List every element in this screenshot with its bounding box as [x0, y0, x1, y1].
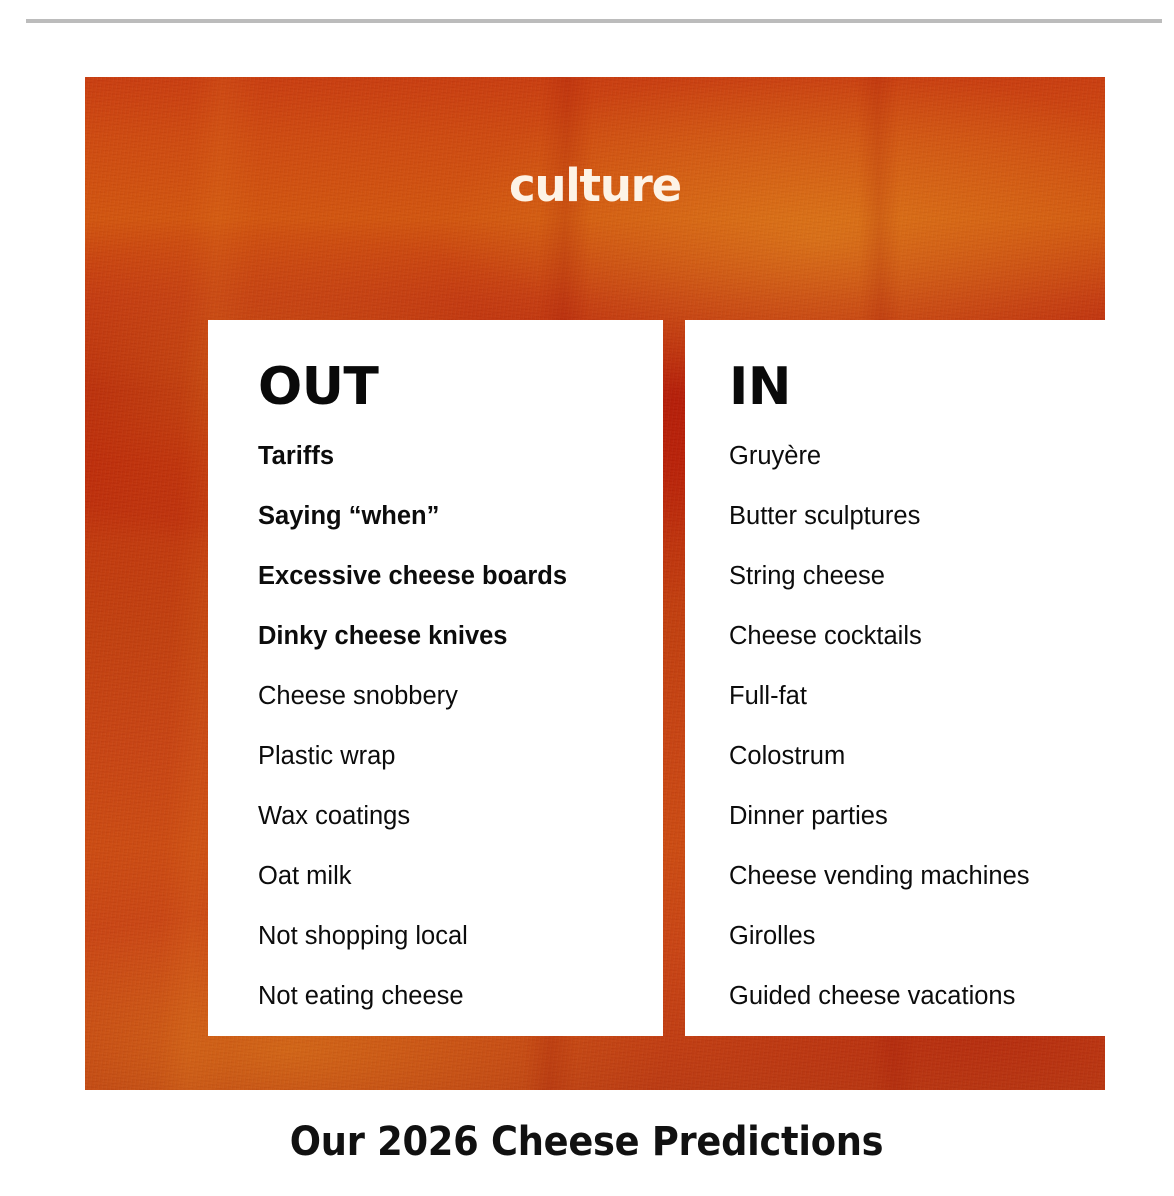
- in-list: Gruyère Butter sculptures String cheese …: [685, 413, 1105, 1010]
- list-item: Wax coatings: [258, 804, 663, 830]
- masthead: culture: [85, 163, 1105, 208]
- list-item: Gruyère: [729, 444, 1105, 470]
- list-item: Cheese cocktails: [729, 624, 1105, 650]
- list-item: Plastic wrap: [258, 744, 663, 770]
- list-item: Colostrum: [729, 744, 1105, 770]
- list-item: Saying “when”: [258, 504, 663, 530]
- list-item: Butter sculptures: [729, 504, 1105, 530]
- out-panel: OUT Tariffs Saying “when” Excessive chee…: [208, 320, 663, 1036]
- list-item: Not eating cheese: [258, 984, 663, 1010]
- top-divider-rule: [26, 19, 1162, 23]
- poster-card: culture OUT Tariffs Saying “when” Excess…: [85, 77, 1105, 1090]
- out-list: Tariffs Saying “when” Excessive cheese b…: [208, 413, 663, 1010]
- list-item: String cheese: [729, 564, 1105, 590]
- list-item: Guided cheese vacations: [729, 984, 1105, 1010]
- in-panel: IN Gruyère Butter sculptures String chee…: [685, 320, 1105, 1036]
- list-item: Oat milk: [258, 864, 663, 890]
- culture-wordmark: culture: [509, 163, 681, 208]
- list-item: Excessive cheese boards: [258, 564, 663, 590]
- list-item: Dinky cheese knives: [258, 624, 663, 650]
- list-item: Cheese snobbery: [258, 684, 663, 710]
- list-item: Full-fat: [729, 684, 1105, 710]
- list-item: Cheese vending machines: [729, 864, 1105, 890]
- in-heading: IN: [685, 320, 1105, 413]
- list-item: Not shopping local: [258, 924, 663, 950]
- caption-text: Our 2026 Cheese Predictions: [290, 1122, 883, 1162]
- caption: Our 2026 Cheese Predictions: [0, 1122, 1174, 1162]
- list-item: Girolles: [729, 924, 1105, 950]
- list-item: Tariffs: [258, 444, 663, 470]
- out-heading: OUT: [208, 320, 663, 413]
- list-item: Dinner parties: [729, 804, 1105, 830]
